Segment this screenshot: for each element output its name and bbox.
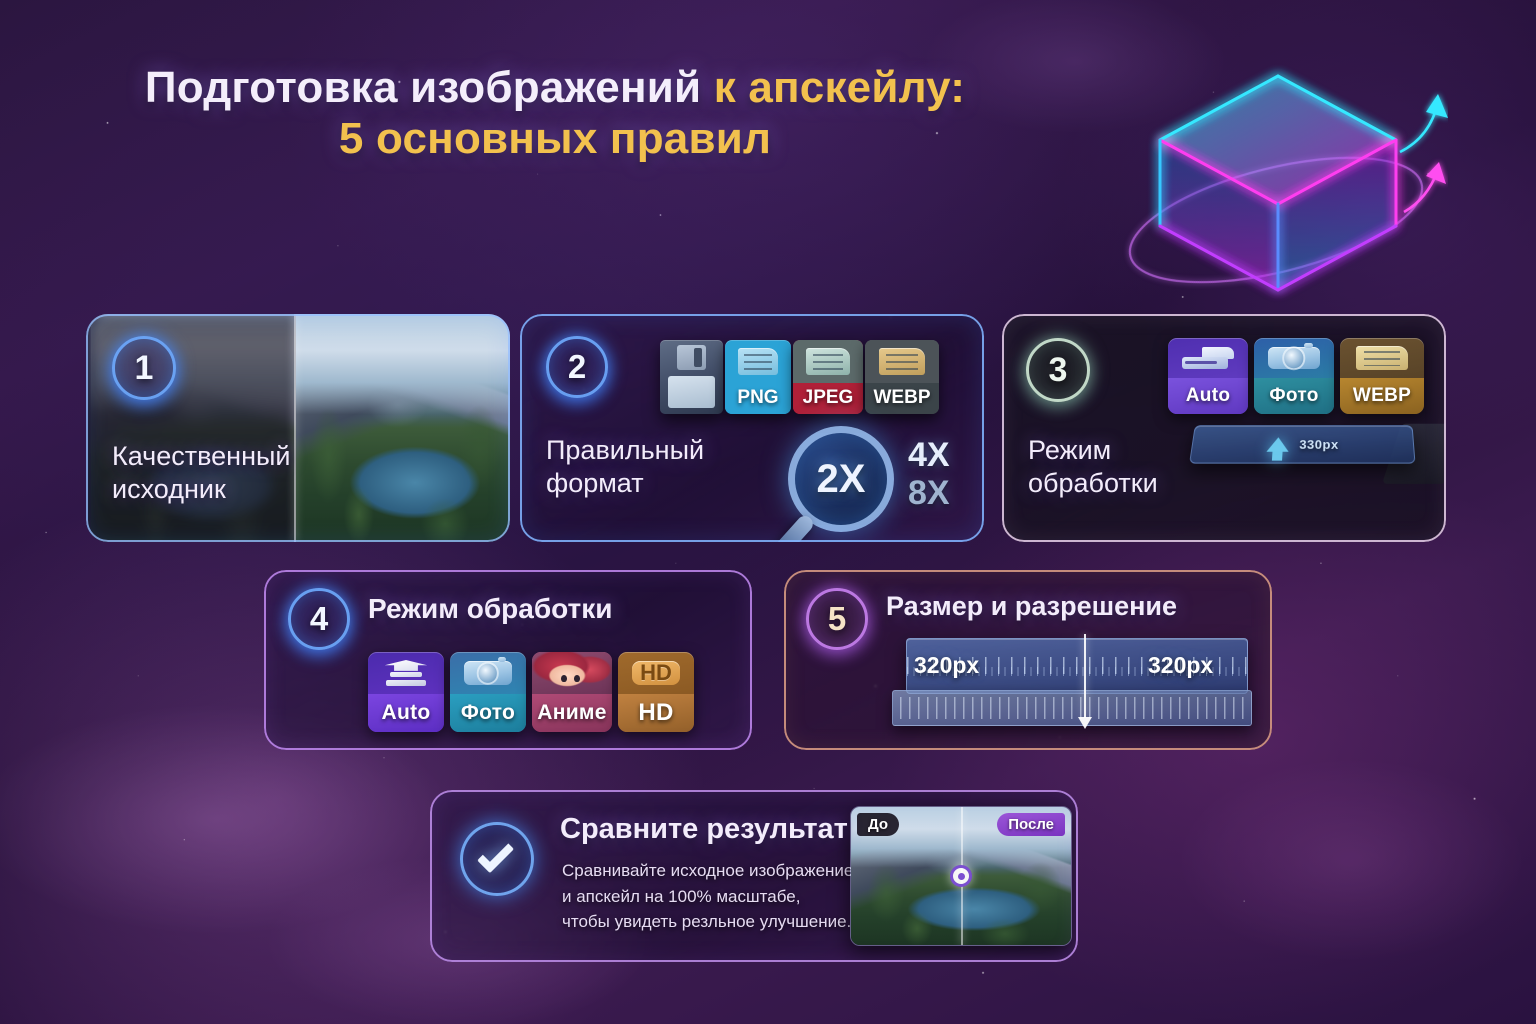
mode-tile-webp-label: WEBP: [1340, 378, 1424, 414]
title-text-accent: к апскейлу:: [714, 63, 965, 112]
mode-tile-auto-4[interactable]: Auto: [368, 652, 444, 732]
auto-glyph-bottom: [386, 680, 425, 686]
card-4-title: Режим обработки: [368, 592, 612, 626]
slider-value-label: 330px: [1299, 437, 1339, 451]
jpeg-doc-lines: [813, 354, 843, 371]
mode-tile-photo-label: Фото: [1254, 378, 1334, 414]
mode-tile-anime[interactable]: Аниме: [532, 652, 612, 732]
check-circle-icon: [460, 822, 534, 896]
card-5-title: Размер и разрешение: [886, 590, 1177, 623]
card-4-number: 4: [310, 600, 328, 638]
magnifier-scale-label: 2X: [817, 457, 866, 502]
png-sheet: [725, 340, 791, 383]
mode-tile-auto[interactable]: Auto: [1168, 338, 1248, 414]
webp-doc-lines: [886, 354, 917, 371]
document-icon: [1340, 338, 1424, 378]
card-1-number-badge: 1: [112, 336, 176, 400]
resolution-slider[interactable]: 330px: [1189, 425, 1415, 463]
card-3-number-badge: 3: [1026, 338, 1090, 402]
camera-icon-4: [450, 652, 526, 694]
webp-sheet: [865, 340, 939, 383]
png-doc-lines: [744, 354, 772, 371]
title-text-white: Подготовка изображений: [145, 63, 714, 112]
scale-option-4x: 4X: [908, 436, 950, 474]
card-2-title: Правильный формат: [546, 434, 766, 500]
measurement-left: 320px: [914, 652, 979, 679]
hd-icon: HD: [618, 652, 694, 694]
mode-tile-photo[interactable]: Фото: [1254, 338, 1334, 414]
auto-glyph: [385, 660, 428, 686]
jpeg-sheet: [793, 340, 863, 383]
mode-tile-auto-label: Auto: [1168, 378, 1248, 414]
check-mark: [477, 836, 514, 873]
mode-tile-webp[interactable]: WEBP: [1340, 338, 1424, 414]
rule-card-2[interactable]: 2 PNG JPEG: [520, 314, 984, 542]
scale-options: 4X 8X: [908, 436, 950, 512]
scale-option-8x: 8X: [908, 474, 950, 512]
compare-handle-knob[interactable]: [950, 865, 972, 887]
magnifier-icon: 2X: [788, 426, 894, 532]
card-3-title: Режим обработки: [1028, 434, 1188, 500]
measurement-divider-arrow: [1084, 634, 1086, 718]
anime-face-glyph: [532, 652, 612, 694]
rule-card-3[interactable]: 3 Auto Фото WEBP: [1002, 314, 1446, 542]
jpeg-doc-glyph: [806, 348, 849, 375]
mode-tile-hd-label: HD: [618, 694, 694, 732]
title-line-2: 5 основных правил: [0, 113, 1110, 164]
auto-glyph-mid: [390, 672, 422, 677]
before-after-compare-widget[interactable]: До После: [850, 806, 1072, 946]
mode-tile-hd[interactable]: HD HD: [618, 652, 694, 732]
printer-glyph: [1182, 347, 1235, 369]
jpeg-extension-label: JPEG: [793, 383, 863, 414]
floppy-disk-icon: [660, 340, 723, 414]
summary-card[interactable]: Сравните результат Сравнивайте исходное …: [430, 790, 1078, 962]
anime-icon: [532, 652, 612, 694]
file-icon-jpeg: JPEG: [793, 340, 863, 414]
anime-eye-right: [574, 675, 580, 682]
auto-icon: [368, 652, 444, 694]
printer-icon: [1168, 338, 1248, 378]
page-title: Подготовка изображений к апскейлу: 5 осн…: [0, 62, 1110, 164]
neon-cube-logo-icon: [1108, 44, 1448, 306]
mode-tile-anime-label: Аниме: [532, 694, 612, 732]
floppy-shutter: [677, 345, 706, 370]
mode-tile-photo-4-label: Фото: [450, 694, 526, 732]
compare-split-line: [294, 314, 296, 542]
arrow-head-down-icon: [1078, 717, 1092, 729]
printer-bar: [1185, 361, 1218, 365]
title-subtitle: 5 основных правил: [339, 114, 771, 163]
summary-title: Сравните результат: [560, 812, 848, 847]
mode-tile-photo-4[interactable]: Фото: [450, 652, 526, 732]
png-extension-label: PNG: [725, 383, 791, 414]
title-line-1: Подготовка изображений к апскейлу:: [0, 62, 1110, 113]
landscape-photo: [294, 314, 510, 542]
before-after-landscape-image: [294, 314, 510, 542]
up-arrow-icon: [1267, 437, 1290, 451]
rule-card-5[interactable]: 5 Размер и разрешение 320px 320px: [784, 570, 1272, 750]
camera-icon: [1254, 338, 1334, 378]
measurement-right: 320px: [1148, 652, 1213, 679]
rule-card-4[interactable]: 4 Режим обработки Auto Фото: [264, 570, 752, 750]
card-4-number-badge: 4: [288, 588, 350, 650]
png-doc-glyph: [738, 348, 779, 375]
mode-tile-auto-4-label: Auto: [368, 694, 444, 732]
hd-glyph: HD: [632, 661, 679, 685]
rule-card-1[interactable]: 1 Качественный исходник: [86, 314, 510, 542]
webp-doc-glyph: [879, 348, 925, 375]
infographic-canvas: Подготовка изображений к апскейлу: 5 осн…: [0, 0, 1536, 1024]
card-1-number: 1: [135, 349, 154, 388]
ruler-base: [892, 690, 1252, 726]
camera-glyph: [1268, 347, 1319, 369]
card-5-number-badge: 5: [806, 588, 868, 650]
webp-document-lines: [1364, 351, 1399, 366]
webp-document-glyph: [1356, 346, 1408, 371]
webp-extension-label: WEBP: [865, 383, 939, 414]
card-1-title: Качественный исходник: [112, 440, 302, 506]
file-icon-png: PNG: [725, 340, 791, 414]
card-3-number: 3: [1049, 351, 1068, 390]
after-label-pill: После: [997, 813, 1065, 836]
floppy-label: [668, 376, 716, 409]
camera-glyph-4: [464, 661, 513, 685]
ruler-base-ticks: [900, 697, 1244, 719]
card-5-number: 5: [828, 600, 846, 638]
card-2-number: 2: [568, 348, 586, 386]
before-label-pill: До: [857, 813, 899, 836]
file-icon-webp: WEBP: [865, 340, 939, 414]
anime-eye-left: [561, 675, 567, 682]
card-2-number-badge: 2: [546, 336, 608, 398]
auto-glyph-top: [385, 660, 428, 671]
